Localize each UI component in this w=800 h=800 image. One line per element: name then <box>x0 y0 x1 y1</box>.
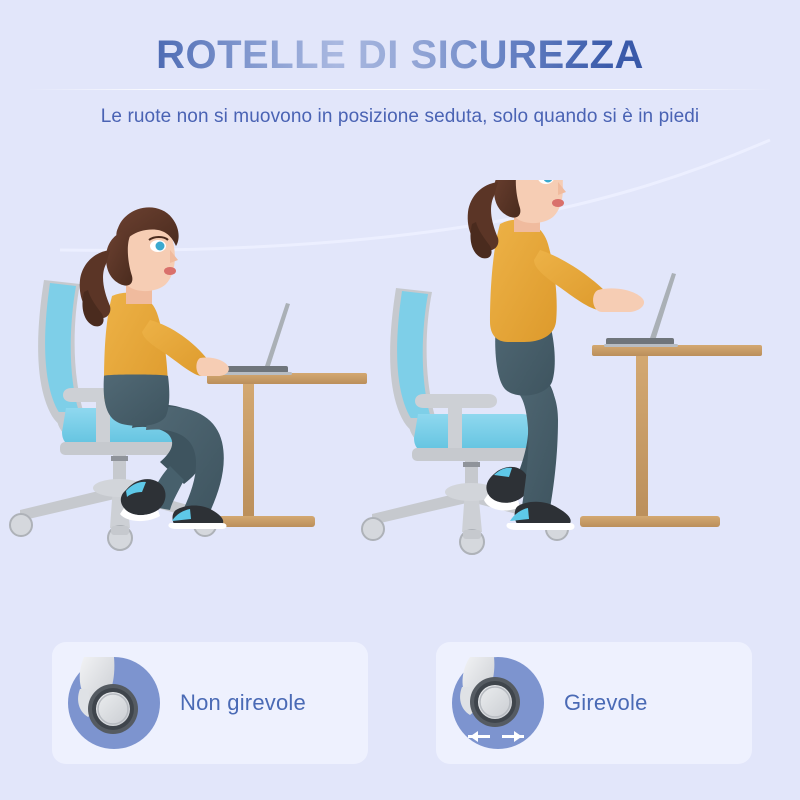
header-divider <box>27 89 773 90</box>
scene-standing <box>362 180 762 554</box>
illustration-svg <box>0 180 800 600</box>
person-seated <box>80 207 229 529</box>
card-label-girevole: Girevole <box>564 690 648 716</box>
shoe-rear-right <box>484 467 529 511</box>
card-girevole[interactable]: Girevole <box>436 642 752 764</box>
card-label-non-girevole: Non girevole <box>180 690 306 716</box>
scene-seated <box>10 207 367 550</box>
legend-cards: Non girevole <box>52 642 752 764</box>
page-subtitle: Le ruote non si muovono in posizione sed… <box>0 106 800 128</box>
caster-wheel-swivel-icon <box>450 655 546 751</box>
page-title: ROTELLE DI SICUREZZA <box>0 33 800 77</box>
desk-right <box>580 345 762 527</box>
card-non-girevole[interactable]: Non girevole <box>52 642 368 764</box>
illustration-area <box>0 180 800 600</box>
laptop-left <box>222 303 292 375</box>
header: ROTELLE DI SICUREZZA Le ruote non si muo… <box>0 0 800 128</box>
infographic-page: ROTELLE DI SICUREZZA Le ruote non si muo… <box>0 0 800 800</box>
caster-wheel-locked-icon <box>66 655 162 751</box>
